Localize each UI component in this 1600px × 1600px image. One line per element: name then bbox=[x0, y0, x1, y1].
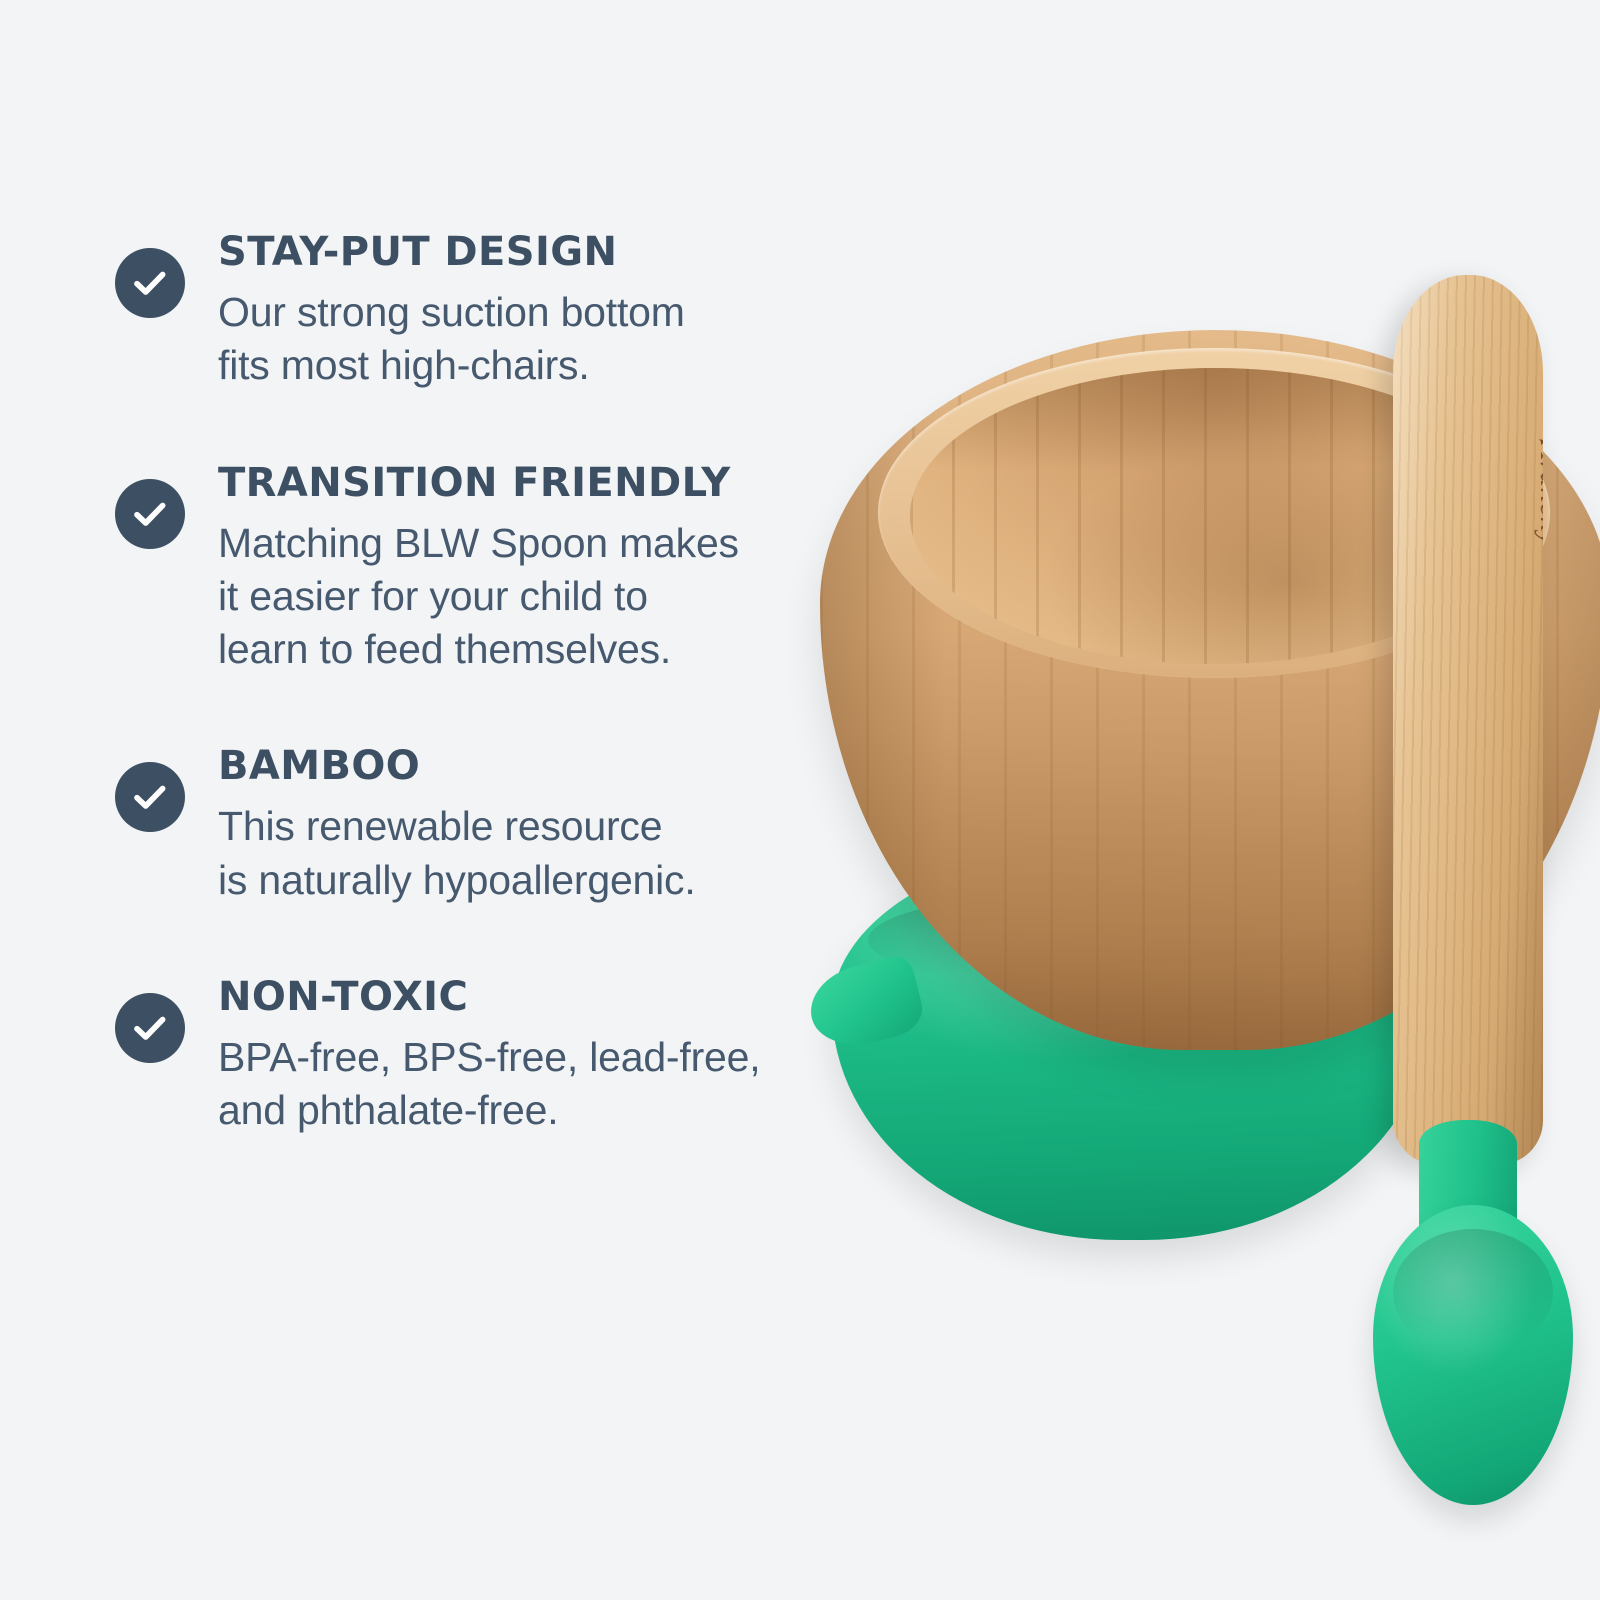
feature-body-line: learn to feed themselves. bbox=[218, 623, 808, 676]
check-circle-icon bbox=[115, 479, 185, 549]
feature-title: BAMBOO bbox=[218, 746, 808, 786]
bird-logo-icon bbox=[1531, 413, 1543, 469]
product-photo: Avanchy bbox=[760, 0, 1600, 1600]
check-circle-icon bbox=[115, 993, 185, 1063]
feature-body-line: it easier for your child to bbox=[218, 570, 808, 623]
feature-list: STAY-PUT DESIGN Our strong suction botto… bbox=[108, 232, 808, 1138]
spoon-bamboo-handle: Avanchy bbox=[1393, 275, 1543, 1165]
feature-item-non-toxic: NON-TOXIC BPA-free, BPS-free, lead-free,… bbox=[108, 977, 808, 1138]
feature-body-line: fits most high-chairs. bbox=[218, 339, 808, 392]
feature-title: NON-TOXIC bbox=[218, 977, 808, 1017]
check-circle-icon bbox=[115, 248, 185, 318]
feature-item-stay-put-design: STAY-PUT DESIGN Our strong suction botto… bbox=[108, 232, 808, 393]
feature-body: BPA-free, BPS-free, lead-free, and phtha… bbox=[218, 1031, 808, 1138]
feature-item-transition-friendly: TRANSITION FRIENDLY Matching BLW Spoon m… bbox=[108, 463, 808, 677]
feature-body-line: and phthalate-free. bbox=[218, 1084, 808, 1137]
feature-title: STAY-PUT DESIGN bbox=[218, 232, 808, 272]
check-circle-icon bbox=[115, 762, 185, 832]
spoon-silicone-bowl bbox=[1373, 1205, 1573, 1505]
feature-body: This renewable resource is naturally hyp… bbox=[218, 800, 808, 907]
feature-body-line: This renewable resource bbox=[218, 800, 808, 853]
feature-body: Our strong suction bottom fits most high… bbox=[218, 286, 808, 393]
feature-title: TRANSITION FRIENDLY bbox=[218, 463, 808, 503]
feature-body-line: is naturally hypoallergenic. bbox=[218, 854, 808, 907]
bamboo-blw-spoon: Avanchy bbox=[1345, 275, 1595, 1335]
feature-body-line: Our strong suction bottom bbox=[218, 286, 808, 339]
feature-body: Matching BLW Spoon makes it easier for y… bbox=[218, 517, 808, 677]
infographic-page: STAY-PUT DESIGN Our strong suction botto… bbox=[0, 0, 1600, 1600]
brand-logo-group: Avanchy bbox=[1459, 413, 1543, 533]
brand-wordmark: Avanchy bbox=[1533, 441, 1543, 546]
feature-item-bamboo: BAMBOO This renewable resource is natura… bbox=[108, 746, 808, 907]
feature-body-line: BPA-free, BPS-free, lead-free, bbox=[218, 1031, 808, 1084]
feature-body-line: Matching BLW Spoon makes bbox=[218, 517, 808, 570]
